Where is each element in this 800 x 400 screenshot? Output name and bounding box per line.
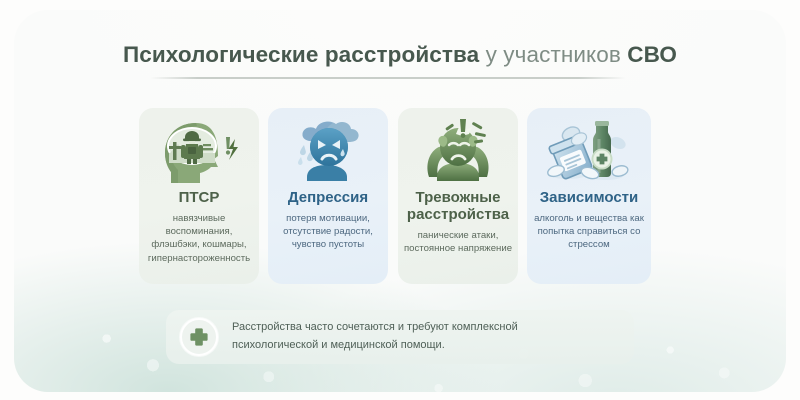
bottle-pills-icon <box>527 112 651 188</box>
sad-face-raincloud-icon <box>268 112 388 188</box>
card-description: навязчивые воспоминания, флэшбэки, кошма… <box>139 212 259 265</box>
page-title: Психологические расстройства у участнико… <box>0 42 800 68</box>
title-part-strong: Психологические расстройства <box>123 42 479 67</box>
title-divider <box>150 77 626 79</box>
footer-line-1: Расстройства часто сочетаются и требуют … <box>232 319 518 337</box>
card-title: Зависимости <box>536 190 643 207</box>
footer-line-2: психологической и медицинской помощи. <box>232 337 518 355</box>
card-title: Тревожные расстройства <box>398 190 518 224</box>
card-description: панические атаки, постоянное напряжение <box>398 229 518 255</box>
medical-cross-icon <box>180 318 218 356</box>
stressed-head-clutch-icon <box>398 112 518 188</box>
title-part-acronym: СВО <box>627 42 677 67</box>
card-title: Депрессия <box>284 190 372 207</box>
card-depression[interactable]: Депрессия потеря мотивации, отсутствие р… <box>268 108 388 284</box>
cards-row: ПТСР навязчивые воспоминания, флэшбэки, … <box>139 108 661 284</box>
card-title: ПТСР <box>175 190 224 207</box>
footer-note: Расстройства часто сочетаются и требуют … <box>166 310 634 364</box>
title-part-light: у участников <box>479 42 627 67</box>
slide-root: Психологические расстройства у участнико… <box>0 0 800 400</box>
card-anxiety[interactable]: Тревожные расстройства панические атаки,… <box>398 108 518 284</box>
card-addictions[interactable]: Зависимости алкоголь и вещества как попы… <box>527 108 651 284</box>
card-description: потеря мотивации, отсутствие радости, чу… <box>268 212 388 252</box>
footer-text: Расстройства часто сочетаются и требуют … <box>232 319 518 355</box>
head-soldier-flashback-icon <box>139 112 259 188</box>
card-description: алкоголь и вещества как попытка справить… <box>527 212 651 252</box>
card-ptsd[interactable]: ПТСР навязчивые воспоминания, флэшбэки, … <box>139 108 259 284</box>
